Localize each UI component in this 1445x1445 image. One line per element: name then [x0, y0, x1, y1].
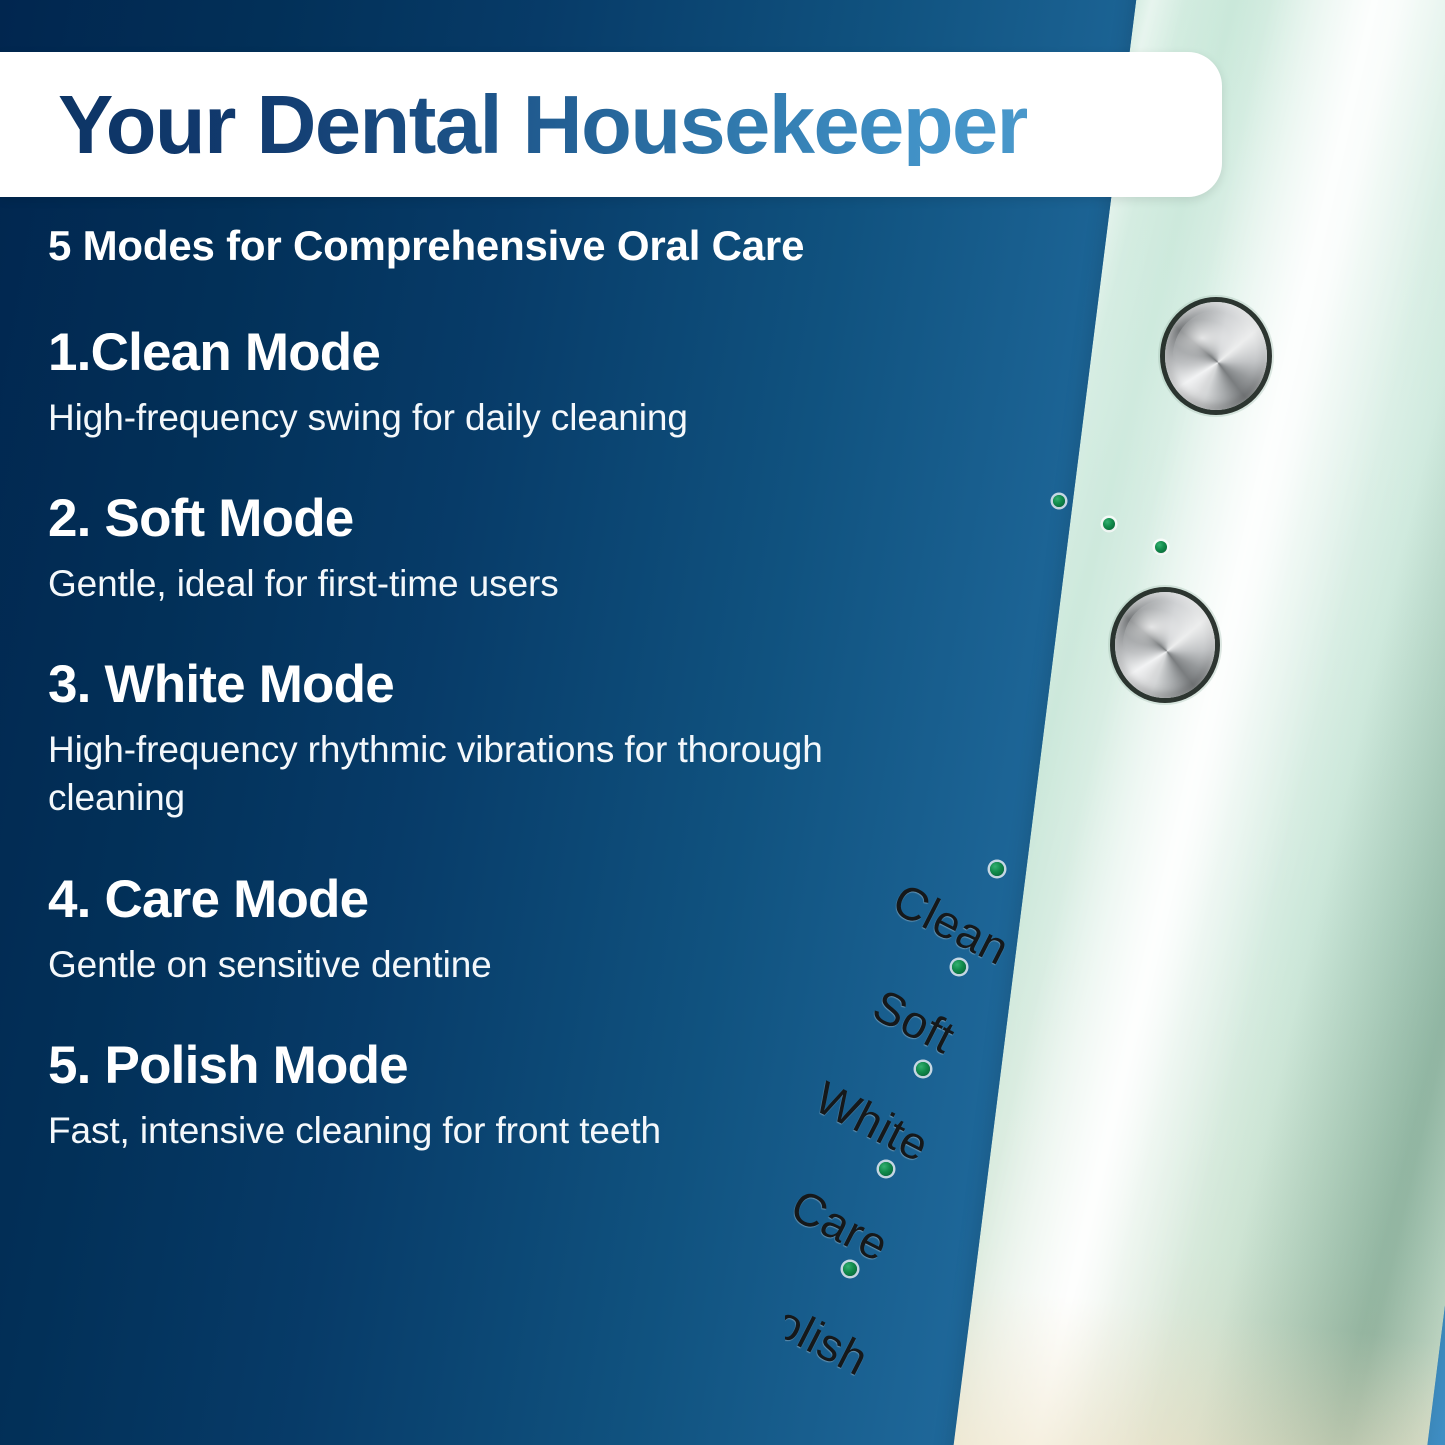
mode-block-polish: 5. Polish Mode Fast, intensive cleaning … — [48, 1037, 858, 1155]
title-banner: Your Dental Housekeeper — [0, 52, 1222, 197]
mode-desc-polish: Fast, intensive cleaning for front teeth — [48, 1107, 858, 1156]
mode-title-soft: 2. Soft Mode — [48, 490, 858, 547]
handle-gloss-highlight — [946, 0, 1445, 1445]
product-photo-toothbrush: Clean Soft White Care Polish — [785, 0, 1445, 1445]
modes-copy-column: 5 Modes for Comprehensive Oral Care 1.Cl… — [48, 222, 858, 1155]
mode-title-polish: 5. Polish Mode — [48, 1037, 858, 1094]
product-mode-label-care: Care — [785, 1178, 898, 1272]
mode-block-white: 3. White Mode High-frequency rhythmic vi… — [48, 656, 858, 823]
toothbrush-handle — [946, 0, 1445, 1445]
handle-shadow — [946, 0, 1445, 1445]
product-mode-label-polish: Polish — [785, 1280, 877, 1386]
mode-button[interactable] — [1115, 592, 1215, 698]
mode-led-care — [879, 1162, 893, 1176]
mode-desc-soft: Gentle, ideal for first-time users — [48, 560, 858, 609]
mode-title-care: 4. Care Mode — [48, 871, 858, 928]
mode-led-white — [916, 1062, 930, 1076]
mode-desc-clean: High-frequency swing for daily cleaning — [48, 394, 858, 443]
mode-led-clean — [990, 862, 1004, 876]
mode-desc-care: Gentle on sensitive dentine — [48, 941, 858, 990]
battery-led-3 — [1155, 541, 1167, 553]
power-button[interactable] — [1165, 302, 1267, 410]
mode-led-polish — [843, 1262, 857, 1276]
battery-led-1 — [1053, 495, 1065, 507]
subtitle: 5 Modes for Comprehensive Oral Care — [48, 222, 858, 270]
product-mode-label-soft: Soft — [864, 978, 963, 1064]
mode-title-white: 3. White Mode — [48, 656, 858, 713]
infographic-canvas: Clean Soft White Care Polish Your Dental… — [0, 0, 1445, 1445]
mode-block-soft: 2. Soft Mode Gentle, ideal for first-tim… — [48, 490, 858, 608]
mode-block-care: 4. Care Mode Gentle on sensitive dentine — [48, 871, 858, 989]
mode-title-clean: 1.Clean Mode — [48, 324, 858, 381]
mode-block-clean: 1.Clean Mode High-frequency swing for da… — [48, 324, 858, 442]
handle-bottom-warm-reflection — [946, 1283, 1440, 1445]
mode-led-soft — [952, 960, 966, 974]
mode-desc-white: High-frequency rhythmic vibrations for t… — [48, 726, 858, 824]
page-title: Your Dental Housekeeper — [58, 83, 1027, 166]
battery-led-2 — [1103, 518, 1115, 530]
product-mode-label-clean: Clean — [884, 872, 1018, 976]
